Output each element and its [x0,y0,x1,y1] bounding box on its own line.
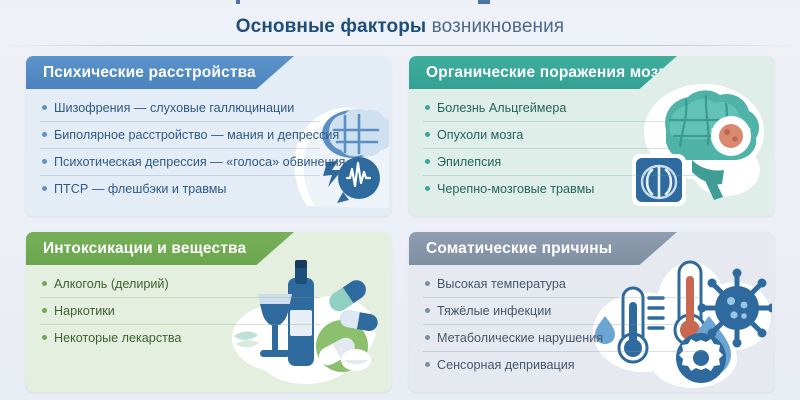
list-item-label: Биполярное расстройство — мания и депрес… [54,128,339,142]
bullet-icon [42,335,47,340]
card-item-list: Шизофрения — слуховые галлюцинации Бипол… [40,94,340,202]
list-item[interactable]: Биполярное расстройство — мания и депрес… [40,121,340,148]
card-heading: Интоксикации и вещества [26,232,294,265]
bullet-icon [425,159,430,164]
list-item[interactable]: ПТСР — флешбэки и травмы [40,175,340,202]
list-item-label: Психотическая депрессия — «голоса» обвин… [54,155,345,169]
list-item-label: Опухоли мозга [437,128,523,142]
factor-card-somatic-causes[interactable]: Соматические причины [409,232,774,392]
list-item[interactable]: Алкоголь (делирий) [40,270,340,297]
bullet-icon [42,105,47,110]
bullet-icon [42,159,47,164]
page-title-rest: возникновения [432,16,565,37]
list-item[interactable]: Тяжёлые инфекции [423,297,723,324]
list-item[interactable]: Опухоли мозга [423,121,723,148]
bullet-icon [42,132,47,137]
card-item-list: Высокая температура Тяжёлые инфекции Мет… [423,270,723,378]
bullet-icon [42,308,47,313]
list-item-label: Черепно-мозговые травмы [437,182,594,196]
list-item[interactable]: Эпилепсия [423,148,723,175]
card-heading: Соматические причины [409,232,677,265]
list-item-label: Некоторые лекарства [54,331,181,345]
list-item-label: Тяжёлые инфекции [437,304,551,318]
card-item-list: Алкоголь (делирий) Наркотики Некоторые л… [40,270,340,351]
bullet-icon [425,186,430,191]
list-item[interactable]: Некоторые лекарства [40,324,340,351]
list-item-label: Эпилепсия [437,155,501,169]
cropped-text-fragment-right [478,0,490,4]
cropped-top-strip [0,0,800,5]
factor-card-grid: Психические расстройства Шизофре [26,56,774,392]
bullet-icon [425,308,430,313]
list-item-label: Алкоголь (делирий) [54,277,169,291]
list-item[interactable]: Болезнь Альцгеймера [423,94,723,121]
list-item[interactable]: Психотическая депрессия — «голоса» обвин… [40,148,340,175]
infographic-page: Основные факторы возникновения Психическ… [0,0,800,400]
bullet-icon [425,132,430,137]
card-item-list: Болезнь Альцгеймера Опухоли мозга Эпилеп… [423,94,723,202]
list-item[interactable]: Черепно-мозговые травмы [423,175,723,202]
bullet-icon [42,281,47,286]
bullet-icon [42,186,47,191]
bullet-icon [425,362,430,367]
page-title: Основные факторы возникновения [0,16,800,38]
card-heading: Органические поражения мозга [409,56,677,89]
bullet-icon [425,335,430,340]
list-item-label: ПТСР — флешбэки и травмы [54,182,226,196]
factor-card-intoxications-substances[interactable]: Интоксикации и вещества [26,232,391,392]
factor-card-organic-brain-lesions[interactable]: Органические поражения мозга [409,56,774,216]
list-item-label: Болезнь Альцгеймера [437,101,566,115]
cropped-text-fragment-left [236,0,240,4]
card-heading: Психические расстройства [26,56,294,89]
bullet-icon [425,281,430,286]
factor-card-mental-disorders[interactable]: Психические расстройства Шизофре [26,56,391,216]
list-item[interactable]: Сенсорная депривация [423,351,723,378]
page-title-strong: Основные факторы [236,16,426,37]
list-item[interactable]: Метаболические нарушения [423,324,723,351]
list-item[interactable]: Наркотики [40,297,340,324]
list-item-label: Шизофрения — слуховые галлюцинации [54,101,294,115]
list-item-label: Высокая температура [437,277,566,291]
list-item-label: Наркотики [54,304,115,318]
title-divider [0,45,800,46]
list-item-label: Метаболические нарушения [437,331,603,345]
list-item-label: Сенсорная депривация [437,358,575,372]
list-item[interactable]: Шизофрения — слуховые галлюцинации [40,94,340,121]
bullet-icon [425,105,430,110]
list-item[interactable]: Высокая температура [423,270,723,297]
